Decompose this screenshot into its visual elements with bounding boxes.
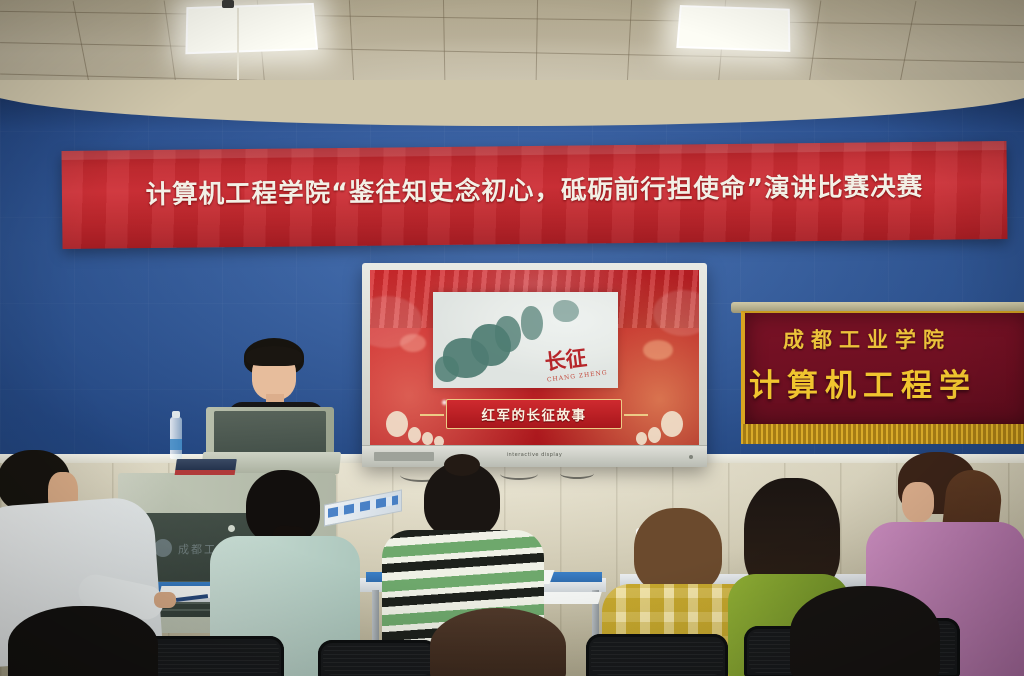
lectern-screen-panel — [214, 411, 326, 455]
audience-hair — [430, 608, 566, 676]
papers-on-desk[interactable] — [540, 592, 601, 604]
audience-hair — [790, 586, 940, 676]
event-banner-text: 计算机工程学院“鉴往知史念初心，砥砺前行担使命”演讲比赛决赛 — [62, 165, 1007, 212]
audience-bun — [444, 454, 480, 476]
table-leg — [372, 590, 379, 644]
audience-hair — [8, 606, 158, 676]
event-banner: 计算机工程学院“鉴往知史念初心，砥砺前行担使命”演讲比赛决赛 — [62, 141, 1008, 249]
slide-title-banner: 红军的长征故事 — [446, 399, 622, 429]
bottle-label — [170, 439, 182, 450]
water-bottle[interactable] — [170, 417, 182, 459]
display-cable — [560, 468, 594, 479]
presenter-fringe — [246, 346, 302, 366]
ceiling-fixture-base — [222, 0, 234, 8]
pennant-fringe — [741, 424, 1024, 444]
display-brand-label: interactive display — [507, 452, 563, 458]
slide-title: 红军的长征故事 — [482, 404, 587, 424]
pennant-department-name: 计算机工程学 — [749, 360, 977, 405]
audience-member-foreground — [430, 608, 566, 676]
slide-calligraphy: 长征 CHANG ZHENG — [543, 339, 608, 383]
audience-member-foreground — [8, 606, 158, 676]
school-emblem-icon — [154, 539, 172, 557]
ceiling-light-panel-right — [676, 5, 790, 52]
audience-face — [902, 482, 934, 522]
audience-chair[interactable] — [318, 640, 438, 676]
audience-hair — [634, 508, 722, 594]
interactive-whiteboard[interactable]: 长征 CHANG ZHENG 红军的长征故事 interactive displ… — [362, 263, 707, 467]
audience-chair[interactable] — [586, 634, 728, 676]
power-indicator-icon — [689, 455, 693, 459]
audience-member-foreground — [790, 586, 940, 676]
pennant-school-name: 成都工业学院 — [783, 324, 951, 354]
display-control-strip[interactable] — [374, 452, 434, 461]
presentation-screen[interactable]: 长征 CHANG ZHENG 红军的长征故事 — [370, 270, 699, 445]
bottle-cap-icon — [172, 411, 180, 418]
lecture-hall-photo: 计算机工程学院“鉴往知史念初心，砥砺前行担使命”演讲比赛决赛 成都工业学院 计算… — [0, 0, 1024, 676]
slide-photo-long-march: 长征 CHANG ZHENG — [433, 292, 618, 388]
department-pennant: 成都工业学院 计算机工程学 — [735, 302, 1024, 448]
ceiling-light-panel-left — [185, 3, 318, 54]
